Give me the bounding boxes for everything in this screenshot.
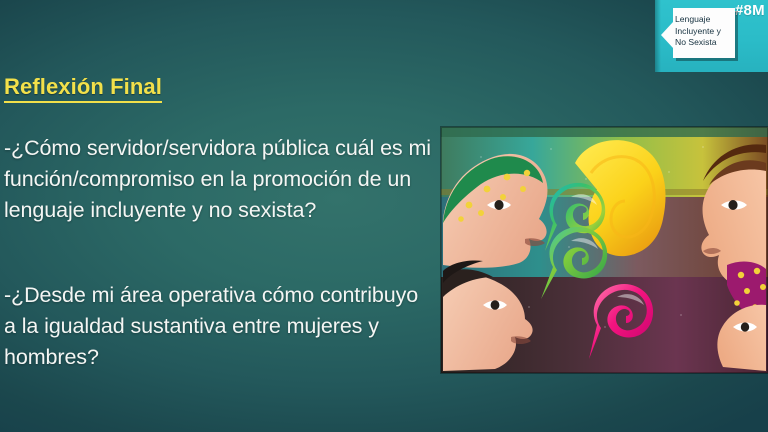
illustration-svg — [441, 127, 768, 373]
page-title: Reflexión Final — [4, 74, 162, 103]
speech-bubble: Lenguaje Incluyente y No Sexista — [661, 8, 747, 64]
speech-bubble-text: Lenguaje Incluyente y No Sexista — [675, 14, 735, 49]
question-paragraph-2: -¿Desde mi área operativa cómo contribuy… — [4, 280, 434, 373]
illustration-image — [441, 127, 768, 373]
illustration-artwork — [441, 127, 768, 373]
question-paragraph-1: -¿Cómo servidor/servidora pública cuál e… — [4, 133, 434, 226]
slide-canvas: #8M Lenguaje Incluyente y No Sexista Ref… — [0, 0, 768, 432]
